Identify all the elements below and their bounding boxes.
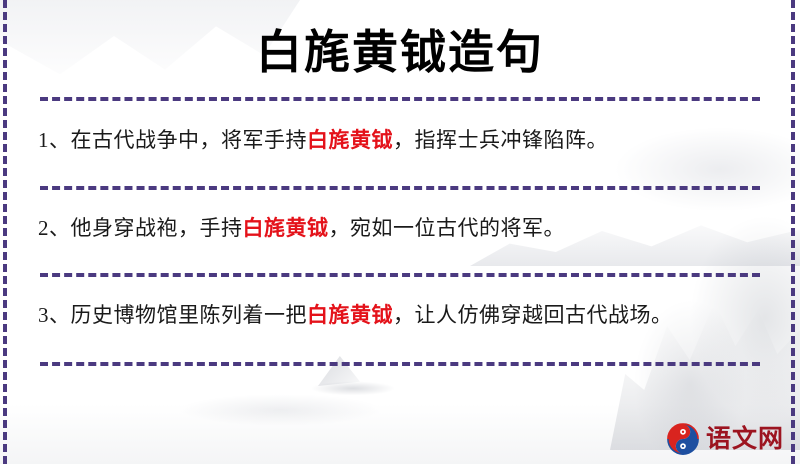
sentence-2-after: ，宛如一位古代的将军。 [329, 216, 566, 240]
sentence-1-index: 1、 [38, 128, 71, 152]
site-logo[interactable]: 语文网 [666, 422, 784, 456]
sentence-1-keyword: 白旄黄钺 [307, 128, 393, 152]
sentence-1-before: 在古代战争中，将军手持 [71, 128, 308, 152]
example-sentence-2: 2、他身穿战袍，手持白旄黄钺，宛如一位古代的将军。 [22, 190, 778, 248]
yin-yang-circle-icon [666, 422, 700, 456]
sentence-3-index: 3、 [38, 303, 71, 327]
page-title: 白旄黄钺造句 [22, 0, 778, 80]
example-sentence-3: 3、历史博物馆里陈列着一把白旄黄钺，让人仿佛穿越回古代战场。 [22, 277, 778, 335]
sentence-3-keyword: 白旄黄钺 [307, 303, 393, 327]
sentence-2-index: 2、 [38, 216, 71, 240]
content-column: 白旄黄钺造句 1、在古代战争中，将军手持白旄黄钺，指挥士兵冲锋陷阵。 2、他身穿… [0, 0, 800, 464]
separator-4 [40, 362, 760, 366]
example-sentence-1: 1、在古代战争中，将军手持白旄黄钺，指挥士兵冲锋陷阵。 [22, 101, 778, 160]
site-logo-text: 语文网 [706, 425, 784, 453]
sentence-1-after: ，指挥士兵冲锋陷阵。 [393, 128, 608, 152]
sentence-2-keyword: 白旄黄钺 [243, 216, 329, 240]
sentence-3-before: 历史博物馆里陈列着一把 [71, 303, 308, 327]
sentence-3-after: ，让人仿佛穿越回古代战场。 [393, 303, 673, 327]
sentence-2-before: 他身穿战袍，手持 [71, 216, 243, 240]
sentence-card-page: 白旄黄钺造句 1、在古代战争中，将军手持白旄黄钺，指挥士兵冲锋陷阵。 2、他身穿… [0, 0, 800, 464]
